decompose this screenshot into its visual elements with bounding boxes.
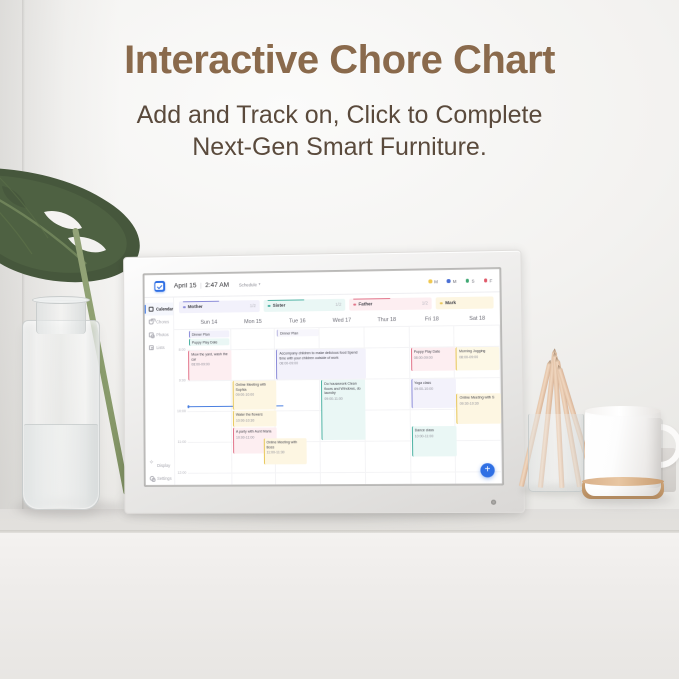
smart-display-tablet[interactable]: April 15 | 2:47 AM Schedule M M xyxy=(123,250,525,514)
sidebar-item-display[interactable]: Display xyxy=(146,459,175,472)
chore-chart-app: April 15 | 2:47 AM Schedule M M xyxy=(145,269,502,485)
event-title: Dinner Plan xyxy=(280,331,316,336)
member-progress-bar xyxy=(268,299,305,301)
vase-lip xyxy=(32,296,90,304)
member-card-father[interactable]: Father 1/2 xyxy=(349,297,432,310)
date-time-separator: | xyxy=(200,282,202,289)
allday-event[interactable]: Dinner Plan xyxy=(189,330,230,337)
chore-basket-icon xyxy=(149,320,154,325)
promo-subline-1: Add and Track on, Click to Complete xyxy=(0,99,679,131)
sidebar-item-label: Calendar xyxy=(156,306,173,311)
legend-initial: F xyxy=(489,278,492,283)
app-sidebar: Calendar Chores Photos Lists xyxy=(145,298,176,485)
time-axis: 8:00 9:00 10:00 11:00 12:00 xyxy=(174,330,188,484)
day-header[interactable]: Thur 18 xyxy=(364,314,409,327)
event-time: 09:00-10:00 xyxy=(236,393,274,398)
add-event-button[interactable]: + xyxy=(480,463,494,477)
event-block[interactable]: Mow the yard, wash the car 08:00-09:00 xyxy=(188,351,232,381)
time-label: 8:00 xyxy=(179,348,186,352)
member-name: Mother xyxy=(188,304,203,309)
view-selector-label: Schedule xyxy=(239,282,257,287)
legend-item[interactable]: F xyxy=(484,278,493,283)
event-title: Water the flowers xyxy=(236,413,274,418)
day-header[interactable]: Sun 14 xyxy=(187,316,231,329)
legend-initial: M xyxy=(434,279,438,284)
app-body: Calendar Chores Photos Lists xyxy=(145,292,502,485)
event-block[interactable]: Do housework Clean floors and Windows, d… xyxy=(321,380,365,441)
event-block[interactable]: Accompany children to make delicious foo… xyxy=(276,349,366,380)
member-dot-icon xyxy=(183,306,186,309)
event-block[interactable]: Dance class 10:00-11:00 xyxy=(412,426,457,457)
promo-text-block: Interactive Chore Chart Add and Track on… xyxy=(0,0,679,163)
member-card-sister[interactable]: Sister 1/2 xyxy=(264,299,346,312)
event-block[interactable]: Water the flowers 10:00-10:30 xyxy=(233,411,277,427)
promo-headline: Interactive Chore Chart xyxy=(0,38,679,83)
member-dot-icon xyxy=(353,303,356,306)
tablet-screen[interactable]: April 15 | 2:47 AM Schedule M M xyxy=(145,269,502,485)
current-date: April 15 xyxy=(174,282,197,289)
sidebar-item-calendar[interactable]: Calendar xyxy=(145,302,173,315)
calendar-grid[interactable]: Dinner Plan Puppy Play Date Dinner Plan … xyxy=(187,326,502,485)
day-header[interactable]: Tue 16 xyxy=(275,315,320,328)
member-progress-text: 1/2 xyxy=(422,301,428,306)
member-dot-icon xyxy=(440,302,443,305)
mug-rim xyxy=(585,406,661,416)
topbar-spacer xyxy=(261,281,428,284)
legend-initial: S xyxy=(471,278,474,283)
sidebar-item-label: Photos xyxy=(156,332,168,337)
time-label: 12:00 xyxy=(178,471,187,475)
allday-event[interactable]: Dinner Plan xyxy=(277,329,318,337)
event-title: Puppy Play Date xyxy=(192,341,228,346)
member-progress-bar xyxy=(353,298,390,300)
sidebar-item-label: Chores xyxy=(156,319,169,324)
photo-icon xyxy=(149,332,154,337)
event-time: 09:00-10:00 xyxy=(414,386,453,391)
legend-item[interactable]: M xyxy=(447,278,457,283)
event-time: 09:00-11:00 xyxy=(324,396,363,401)
event-title: Accompany children to make delicious foo… xyxy=(279,351,363,361)
event-block[interactable]: Morning Jogging 08:00-09:00 xyxy=(456,347,500,371)
event-title: Dance class xyxy=(415,428,454,433)
display-brightness-icon xyxy=(150,463,155,468)
mug-cork-top xyxy=(582,477,664,486)
member-name: Father xyxy=(358,302,372,307)
event-block[interactable]: Yoga class 09:00-10:00 xyxy=(411,379,456,409)
list-icon xyxy=(149,345,154,350)
sidebar-item-label: Settings xyxy=(157,476,172,481)
event-title: Dinner Plan xyxy=(192,332,228,337)
legend-dot-icon xyxy=(428,280,432,284)
app-logo-cell xyxy=(145,280,174,291)
gear-icon xyxy=(150,476,155,481)
time-label: 9:00 xyxy=(179,379,186,383)
sidebar-spacer xyxy=(145,354,174,459)
sidebar-item-chores[interactable]: Chores xyxy=(145,315,173,328)
legend-item[interactable]: S xyxy=(466,278,475,283)
member-card-mother[interactable]: Mother 1/2 xyxy=(179,300,260,313)
member-dot-icon xyxy=(268,305,271,308)
day-column-thur[interactable] xyxy=(364,327,411,484)
member-progress-text: 1/2 xyxy=(250,304,256,309)
member-progress-bar xyxy=(183,301,219,303)
event-time: 08:00-09:00 xyxy=(279,361,363,367)
calendar-check-icon xyxy=(154,280,165,291)
day-header[interactable]: Mon 15 xyxy=(231,316,275,329)
sidebar-item-lists[interactable]: Lists xyxy=(145,341,173,354)
member-card-mark[interactable]: Mark xyxy=(436,296,494,309)
time-label: 11:00 xyxy=(178,440,187,444)
day-header[interactable]: Wed 17 xyxy=(320,314,365,327)
event-title: Online Meeting with Boss xyxy=(266,440,305,449)
calendar-icon xyxy=(149,307,154,312)
chevron-down-icon xyxy=(259,283,261,285)
event-time: 08:00-09:00 xyxy=(414,355,453,360)
current-time: 2:47 AM xyxy=(205,281,229,288)
event-time: 09:30-10:30 xyxy=(460,401,500,406)
glass-pencil-cup xyxy=(528,414,584,492)
event-title: Puppy Play Date xyxy=(414,350,453,355)
member-name: Mark xyxy=(445,300,456,305)
event-time: 10:00-10:30 xyxy=(236,418,274,423)
day-header[interactable]: Sat 18 xyxy=(454,312,500,325)
tablet-led-indicator xyxy=(491,500,496,505)
event-title: A party with Aunt Maria xyxy=(236,430,275,435)
promo-subline-2: Next-Gen Smart Furniture. xyxy=(0,131,679,163)
event-title: Yoga class xyxy=(414,381,453,386)
event-block[interactable]: Online Meeting with Boss 11:00-11:30 xyxy=(263,439,307,465)
event-title: Morning Jogging xyxy=(459,349,497,354)
member-progress-text: 1/2 xyxy=(335,302,341,307)
event-title: Online Meeting with S xyxy=(460,396,500,401)
event-block[interactable]: Online Meeting with Sophia 09:00-10:00 xyxy=(233,381,277,410)
sidebar-item-label: Display xyxy=(157,463,170,468)
desk-front-panel xyxy=(0,533,679,679)
legend-dot-icon xyxy=(447,279,451,283)
allday-event[interactable]: Puppy Play Date xyxy=(189,339,230,346)
event-title: Online Meeting with Sophia xyxy=(236,383,275,393)
plus-icon: + xyxy=(485,465,491,475)
event-title: Do housework Clean floors and Windows, d… xyxy=(324,382,363,396)
legend-initial: M xyxy=(453,278,457,283)
member-name: Sister xyxy=(273,303,286,308)
vase-water xyxy=(24,424,98,508)
sidebar-item-settings[interactable]: Settings xyxy=(146,472,175,485)
view-selector[interactable]: Schedule xyxy=(239,282,261,287)
event-block[interactable]: Puppy Play Date 08:00-09:00 xyxy=(411,348,456,372)
legend-dot-icon xyxy=(484,279,488,283)
app-main: Mother 1/2 Sister 1/2 Father xyxy=(174,292,502,484)
sidebar-item-photos[interactable]: Photos xyxy=(145,328,173,341)
calendar-grid-wrapper[interactable]: 8:00 9:00 10:00 11:00 12:00 xyxy=(174,326,502,485)
sidebar-item-label: Lists xyxy=(156,345,164,350)
legend-dot-icon xyxy=(466,279,470,283)
day-header[interactable]: Fri 18 xyxy=(409,313,454,326)
event-block[interactable]: Online Meeting with S 09:30-10:30 xyxy=(457,394,502,425)
event-time: 08:00-09:00 xyxy=(191,362,230,367)
event-title: Mow the yard, wash the car xyxy=(191,352,230,362)
event-time: 10:00-11:00 xyxy=(415,434,454,439)
event-time: 08:00-09:00 xyxy=(459,354,497,359)
event-time: 11:00-11:30 xyxy=(267,450,306,455)
legend-item[interactable]: M xyxy=(428,279,438,284)
member-legend: M M S F xyxy=(428,278,492,284)
vase-neck xyxy=(36,300,86,334)
time-label: 10:00 xyxy=(177,410,186,414)
